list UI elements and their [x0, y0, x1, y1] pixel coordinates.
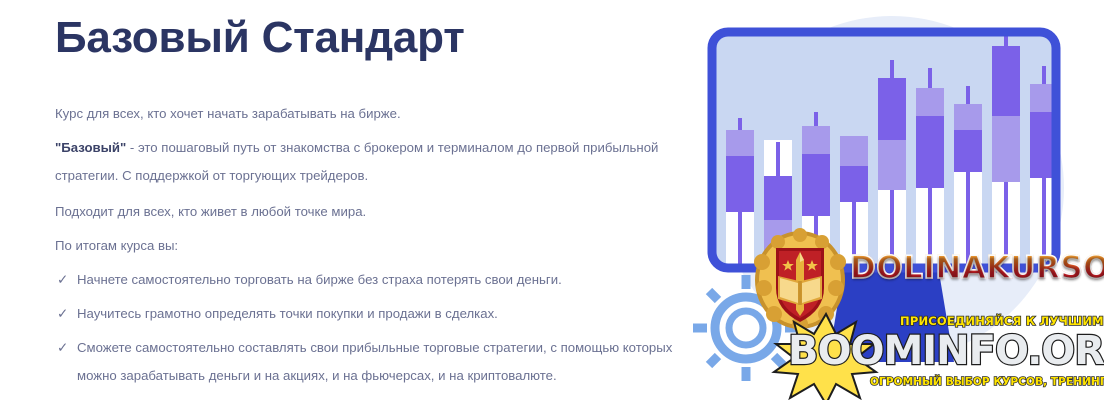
check-icon: ✓ [57, 266, 68, 294]
list-item-label: Научитесь грамотно определять точки поку… [77, 306, 498, 321]
list-item: ✓ Начнете самостоятельно торговать на би… [55, 266, 675, 294]
promo-page: Базовый Стандарт Курс для всех, кто хоче… [0, 0, 1104, 400]
outcomes-list: ✓ Начнете самостоятельно торговать на би… [55, 266, 675, 400]
intro-paragraph: Курс для всех, кто хочет начать зарабаты… [55, 100, 675, 128]
list-item: ✓ Сможете самостоятельно составлять свои… [55, 334, 675, 390]
trading-monitor-illustration [676, 0, 1104, 400]
candlestick [954, 86, 982, 290]
check-icon: ✓ [57, 396, 68, 400]
list-item: ✓ Увидите, как зарабатывать не только на… [55, 396, 675, 400]
definition-paragraph: "Базовый" - это пошаговый путь от знаком… [55, 134, 675, 190]
illustration-svg [676, 0, 1104, 400]
definition-bold-term: "Базовый" [55, 140, 126, 155]
candlestick [992, 14, 1020, 290]
definition-rest-text: - это пошаговый путь от знакомства с бро… [55, 140, 658, 183]
check-icon: ✓ [57, 334, 68, 362]
list-item-label: Начнете самостоятельно торговать на бирж… [77, 272, 562, 287]
candlestick [878, 60, 906, 290]
list-item-label: Сможете самостоятельно составлять свои п… [77, 340, 672, 383]
list-item: ✓ Научитесь грамотно определять точки по… [55, 300, 675, 328]
suitability-paragraph: Подходит для всех, кто живет в любой точ… [55, 198, 675, 226]
monitor-stand [828, 266, 954, 362]
outcomes-heading: По итогам курса вы: [55, 232, 675, 260]
check-icon: ✓ [57, 300, 68, 328]
page-title: Базовый Стандарт [55, 12, 465, 64]
candlestick [1068, 0, 1096, 270]
text-content: Базовый Стандарт Курс для всех, кто хоче… [55, 0, 675, 400]
body-copy: Курс для всех, кто хочет начать зарабаты… [55, 100, 675, 400]
candlestick [916, 68, 944, 290]
